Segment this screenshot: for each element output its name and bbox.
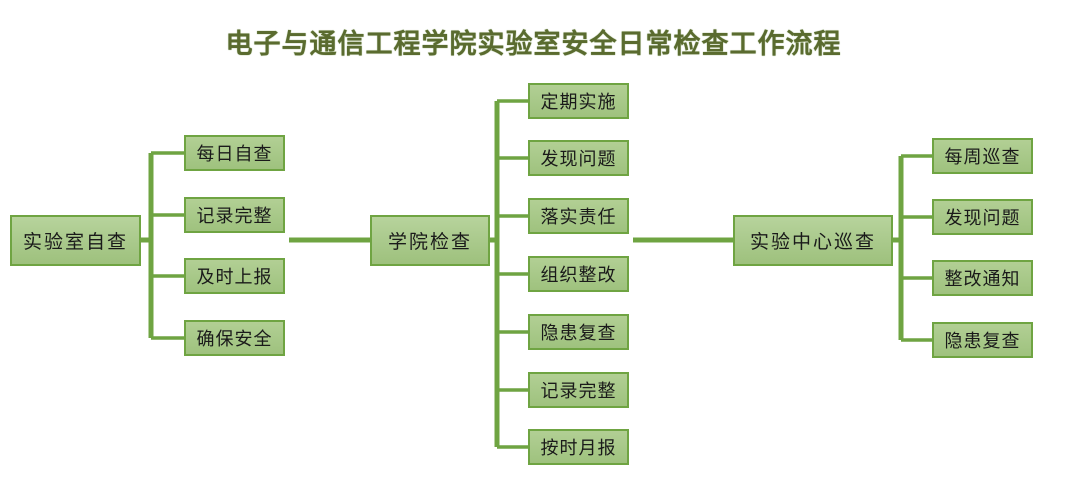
node-child-hazard-recheck-2[interactable]: 隐患复查	[932, 322, 1033, 358]
node-child-rectification-notice[interactable]: 整改通知	[932, 260, 1033, 296]
node-child-timely-report[interactable]: 及时上报	[184, 258, 285, 294]
node-child-find-problems[interactable]: 发现问题	[528, 140, 629, 176]
node-parent-lab-selfcheck[interactable]: 实验室自查	[10, 215, 141, 266]
node-child-regular-implementation[interactable]: 定期实施	[528, 83, 629, 119]
node-child-complete-record-2[interactable]: 记录完整	[528, 372, 629, 408]
node-child-ensure-safety[interactable]: 确保安全	[184, 320, 285, 356]
node-child-hazard-recheck[interactable]: 隐患复查	[528, 314, 629, 350]
diagram-canvas: 电子与通信工程学院实验室安全日常检查工作流程	[0, 0, 1067, 479]
node-child-daily-selfcheck[interactable]: 每日自查	[184, 135, 285, 171]
node-child-find-problems-2[interactable]: 发现问题	[932, 199, 1033, 235]
node-child-complete-record[interactable]: 记录完整	[184, 197, 285, 233]
node-child-organize-rectification[interactable]: 组织整改	[528, 256, 629, 292]
node-parent-center-patrol[interactable]: 实验中心巡查	[733, 215, 893, 266]
node-child-weekly-patrol[interactable]: 每周巡查	[932, 138, 1033, 174]
node-parent-college-inspection[interactable]: 学院检查	[370, 215, 490, 266]
node-child-assign-responsibility[interactable]: 落实责任	[528, 198, 629, 234]
node-child-monthly-report[interactable]: 按时月报	[528, 429, 629, 465]
